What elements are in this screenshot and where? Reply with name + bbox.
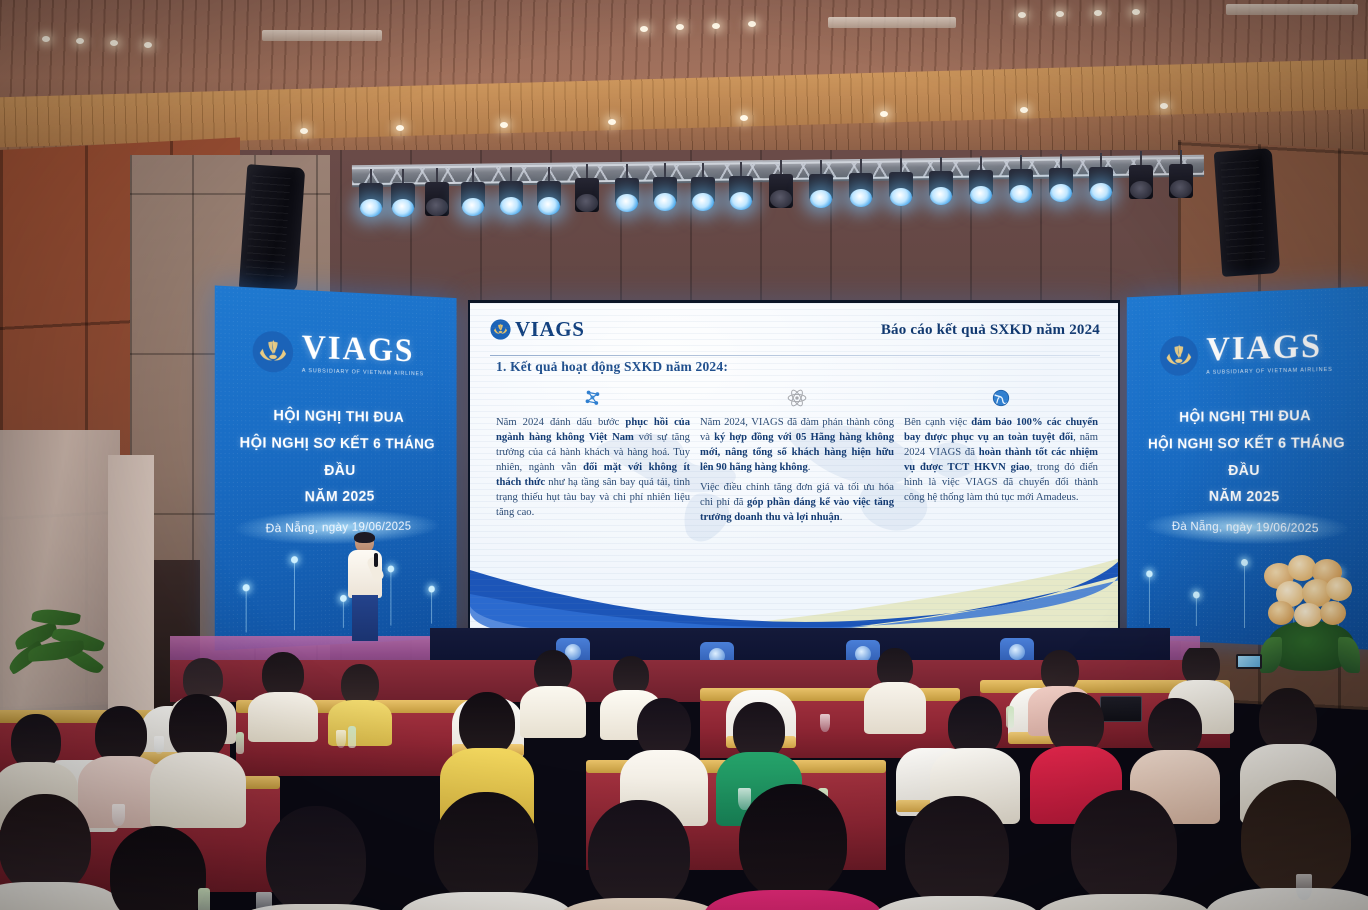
wine-glass [336, 730, 346, 748]
slide-header-title: Báo cáo kết quả SXKD năm 2024 [881, 322, 1100, 339]
ceiling-downlight [110, 40, 118, 46]
slide-columns: Năm 2024 đánh dấu bước phục hồi của ngàn… [496, 385, 1098, 525]
ceiling-downlight [1160, 103, 1168, 109]
ceiling-downlight [608, 119, 616, 125]
stage-light [688, 177, 718, 223]
ceiling-downlight [396, 125, 404, 131]
ceiling-downlight [712, 23, 720, 29]
presenter [344, 533, 386, 641]
stage-light [726, 176, 756, 222]
ceiling-downlight [640, 26, 648, 32]
wine-glass [256, 892, 272, 910]
slide-logo: VIAGS [490, 319, 585, 340]
stage-light [534, 181, 564, 227]
stage-light [1126, 165, 1156, 211]
slide-subtitle: 1. Kết quả hoạt động SXKD năm 2024: [496, 359, 728, 375]
panel-title-line-2: HỘI NGHỊ SƠ KẾT 6 THÁNG ĐẦU [225, 430, 447, 485]
globe-icon [904, 385, 1098, 411]
audience-area [0, 648, 1368, 910]
panel-wordmark-left: VIAGS A SUBSIDIARY OF VIETNAM AIRLINES [302, 330, 424, 377]
stage-light [496, 181, 526, 227]
molecule-network-icon [496, 385, 690, 411]
ceiling-downlight [740, 115, 748, 121]
ceiling-downlight [76, 38, 84, 44]
stage-light [846, 173, 876, 219]
presenter-legs [352, 595, 378, 641]
audience-member [400, 792, 572, 910]
presenter-hair [354, 532, 375, 543]
ceiling-downlight [500, 122, 508, 128]
stage-light [1166, 164, 1196, 210]
panel-title-line-1: HỘI NGHỊ THI ĐUA [225, 402, 447, 432]
ceiling-downlight [300, 128, 308, 134]
ceiling-downlight [1018, 12, 1026, 18]
wine-glass [820, 714, 830, 732]
ceiling-downlight [1132, 9, 1140, 15]
slide-column: Năm 2024 đánh dấu bước phục hồi của ngàn… [496, 385, 690, 525]
stage-light [766, 174, 796, 220]
stage-light [572, 178, 602, 224]
ceiling-downlight [144, 42, 152, 48]
stage-light [1086, 167, 1116, 213]
lotus-icon [1159, 334, 1199, 376]
atom-icon [700, 385, 894, 411]
panel-title-line-1: HỘI NGHỊ THI ĐUA [1136, 402, 1358, 432]
slide-logo-text: VIAGS [515, 319, 585, 340]
ceiling-downlight [880, 111, 888, 117]
slide-column: Năm 2024, VIAGS đã đàm phán thành công v… [700, 385, 894, 525]
main-projection-screen: VIAGS Báo cáo kết quả SXKD năm 2024 1. K… [468, 300, 1120, 640]
panel-wordmark-right: VIAGS A SUBSIDIARY OF VIETNAM AIRLINES [1206, 329, 1333, 376]
panel-title-line-2: HỘI NGHỊ SƠ KẾT 6 THÁNG ĐẦU [1136, 430, 1358, 485]
audience-member [78, 826, 238, 910]
smartphone [1236, 654, 1262, 669]
audience-member [864, 648, 926, 732]
stage-light [1006, 169, 1036, 215]
panel-logo-left: VIAGS A SUBSIDIARY OF VIETNAM AIRLINES [215, 327, 457, 378]
led-panel-left: VIAGS A SUBSIDIARY OF VIETNAM AIRLINES H… [215, 285, 457, 650]
slide-header: VIAGS Báo cáo kết quả SXKD năm 2024 [490, 319, 1100, 359]
ceiling-downlight [1094, 10, 1102, 16]
slide-column-text: Năm 2024, VIAGS đã đàm phán thành công v… [700, 415, 894, 525]
audience-member [150, 694, 246, 822]
ceiling-downlight [676, 24, 684, 30]
water-bottle [348, 726, 356, 748]
slide-column: Bên cạnh việc đảm bảo 100% các chuyến ba… [904, 385, 1098, 525]
led-node-graphic-left [215, 522, 457, 651]
header-divider [490, 355, 1100, 356]
stage-light [806, 174, 836, 220]
microphone-icon [374, 553, 378, 567]
slide-content: VIAGS Báo cáo kết quả SXKD năm 2024 1. K… [470, 303, 1118, 634]
water-bottle [198, 888, 210, 910]
audience-member [1206, 780, 1368, 910]
conference-hall-photo: VIAGS A SUBSIDIARY OF VIETNAM AIRLINES H… [0, 0, 1368, 910]
ceiling-downlight [1056, 11, 1064, 17]
panel-title-line-3: NĂM 2025 [1136, 484, 1358, 513]
stage-light [886, 172, 916, 218]
panel-title-line-3: NĂM 2025 [225, 484, 447, 513]
panel-title-left: HỘI NGHỊ THI ĐUA HỘI NGHỊ SƠ KẾT 6 THÁNG… [225, 402, 447, 513]
panel-logo-text: VIAGS [1206, 329, 1322, 367]
stage-light [356, 183, 386, 229]
slide-footer-swoosh [470, 554, 1118, 634]
panel-logo-text: VIAGS [302, 330, 414, 368]
stage-light [458, 182, 488, 228]
audience-member [704, 784, 882, 910]
stage-light [966, 170, 996, 216]
ceiling-vent [1226, 4, 1358, 15]
slide-column-text: Năm 2024 đánh dấu bước phục hồi của ngàn… [496, 415, 690, 520]
lotus-icon [252, 329, 294, 373]
pa-speaker-left [239, 164, 306, 293]
wine-glass [1296, 874, 1312, 900]
ceiling-vent [828, 17, 956, 28]
pa-speaker-right [1214, 148, 1281, 277]
ceiling-vent [262, 30, 382, 41]
ceiling-downlight [1020, 107, 1028, 113]
audience-member [872, 796, 1042, 910]
panel-logo-right: VIAGS A SUBSIDIARY OF VIETNAM AIRLINES [1127, 328, 1368, 378]
stage-light [388, 183, 418, 229]
audience-member [556, 800, 722, 910]
audience-member [1036, 790, 1212, 910]
panel-title-right: HỘI NGHỊ THI ĐUA HỘI NGHỊ SƠ KẾT 6 THÁNG… [1136, 402, 1358, 512]
audience-member [248, 652, 318, 740]
stage-light [650, 177, 680, 223]
lotus-icon [490, 319, 511, 340]
stage-light [926, 171, 956, 217]
stage-light [1046, 168, 1076, 214]
ceiling-downlight [42, 36, 50, 42]
stage-light [422, 182, 452, 228]
slide-column-text: Bên cạnh việc đảm bảo 100% các chuyến ba… [904, 415, 1098, 505]
ceiling-downlight [748, 21, 756, 27]
stage-light [612, 178, 642, 224]
